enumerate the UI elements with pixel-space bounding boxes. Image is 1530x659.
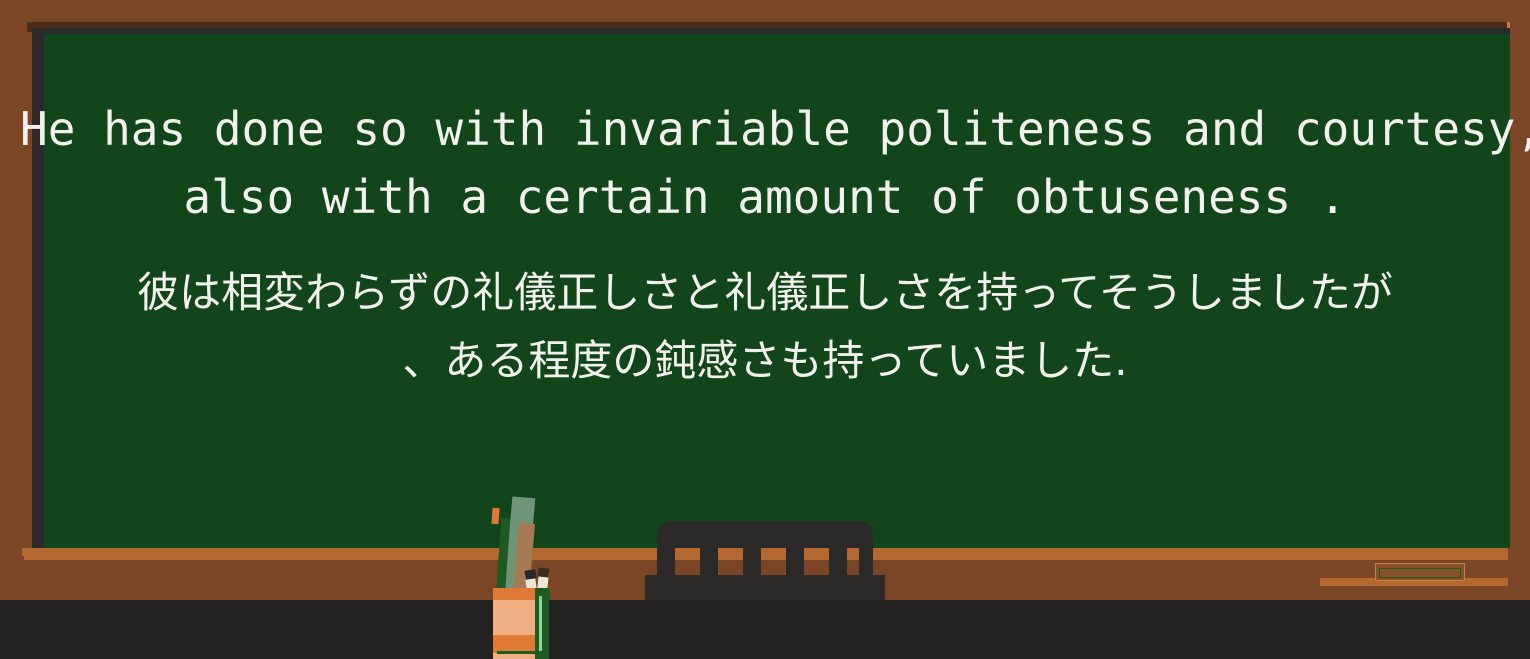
chalkboard-scene: He has done so with invariable politenes… [0, 0, 1530, 659]
chalk-ledge-top-edge [22, 548, 1508, 560]
board-inner-left-shadow [32, 28, 44, 550]
floor-area [0, 600, 1530, 659]
chalk-stick-1-cap [524, 569, 536, 579]
chalk-stick-2-cap [538, 567, 550, 577]
chalk-ledge-left-block [0, 556, 24, 600]
pencil-tip [491, 508, 499, 524]
pencil-cup-foot-line [497, 651, 545, 654]
eraser-felt-strip [1379, 568, 1461, 578]
pencil-cup-side-panel [535, 588, 549, 659]
board-inner-top-shadow [32, 28, 1510, 34]
pencil-cup-side-line [539, 596, 542, 654]
chair-lower-body [645, 575, 885, 600]
blackboard-surface [32, 28, 1510, 550]
